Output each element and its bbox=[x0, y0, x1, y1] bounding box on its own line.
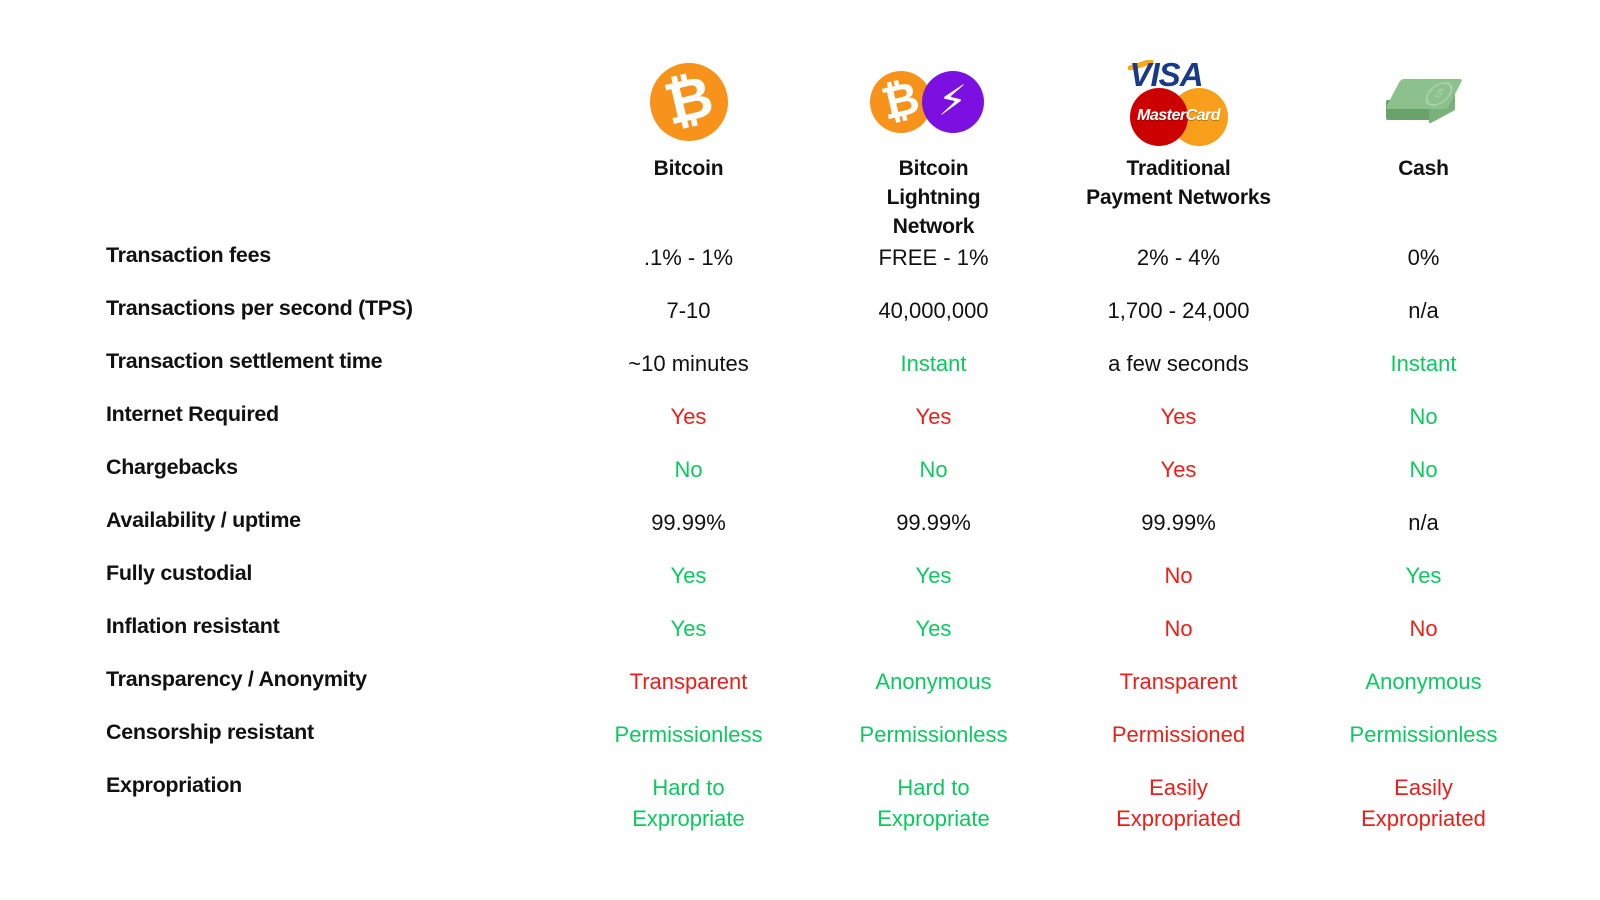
cell-value: FREE - 1% bbox=[811, 232, 1056, 273]
cell-value: 40,000,000 bbox=[811, 273, 1056, 326]
row-label-transparency-anonymity: Transparency / Anonymity bbox=[106, 644, 566, 692]
comparison-table: ₿ Bitcoin ₿ ⚡ Bitcoin Lightning Network bbox=[0, 0, 1600, 900]
cell-value: No bbox=[1301, 432, 1546, 485]
visa-mastercard-stack: VISA MasterCard bbox=[1125, 58, 1233, 146]
bitcoin-symbol-glyph: ₿ bbox=[878, 74, 924, 126]
cell-value: Yes bbox=[1301, 538, 1546, 591]
cell-value: a few seconds bbox=[1056, 326, 1301, 379]
mastercard-logo-icon: MasterCard bbox=[1130, 88, 1228, 146]
row-label-availability-uptime: Availability / uptime bbox=[106, 485, 566, 533]
visa-mastercard-logo-icon: VISA MasterCard bbox=[1125, 50, 1233, 154]
row-label-transaction-fees: Transaction fees bbox=[106, 232, 566, 268]
cell-value: Transparent bbox=[566, 644, 811, 697]
bitcoin-symbol-glyph: ₿ bbox=[659, 66, 718, 133]
row-label-fully-custodial: Fully custodial bbox=[106, 538, 566, 586]
bitcoin-logo-icon: ₿ bbox=[650, 50, 728, 154]
cell-value: Anonymous bbox=[811, 644, 1056, 697]
column-header-lightning: ₿ ⚡ Bitcoin Lightning Network bbox=[811, 40, 1056, 241]
mastercard-wordmark: MasterCard bbox=[1133, 108, 1225, 124]
cell-value: 2% - 4% bbox=[1056, 232, 1301, 273]
cell-value: 0% bbox=[1301, 232, 1546, 273]
cell-value: Permissionless bbox=[811, 697, 1056, 750]
visa-logo-icon: VISA bbox=[1127, 58, 1231, 91]
cell-value: Easily Expropriated bbox=[1056, 750, 1301, 834]
cell-value: No bbox=[1301, 591, 1546, 644]
cell-value: Anonymous bbox=[1301, 644, 1546, 697]
cell-value: .1% - 1% bbox=[566, 232, 811, 273]
cell-value: Yes bbox=[566, 379, 811, 432]
column-header-label: Cash bbox=[1398, 154, 1449, 183]
column-header-label: Bitcoin Lightning Network bbox=[887, 154, 981, 241]
bitcoin-circle: ₿ bbox=[650, 63, 728, 141]
row-label-inflation-resistant: Inflation resistant bbox=[106, 591, 566, 639]
cell-value: n/a bbox=[1301, 485, 1546, 538]
lightning-bolt-circle: ⚡ bbox=[922, 71, 984, 133]
column-header-label: Bitcoin bbox=[654, 154, 724, 183]
lightning-bolt-glyph: ⚡ bbox=[938, 80, 968, 122]
cell-value: Yes bbox=[811, 538, 1056, 591]
cash-stack: $ bbox=[1385, 75, 1463, 129]
row-label-settlement-time: Transaction settlement time bbox=[106, 326, 566, 374]
row-label-internet-required: Internet Required bbox=[106, 379, 566, 427]
column-header-label: Traditional Payment Networks bbox=[1086, 154, 1271, 212]
cell-value: 99.99% bbox=[1056, 485, 1301, 538]
cell-value: No bbox=[566, 432, 811, 485]
cell-value: Yes bbox=[566, 591, 811, 644]
cell-value: Transparent bbox=[1056, 644, 1301, 697]
cell-value: Easily Expropriated bbox=[1301, 750, 1546, 834]
cell-value: Hard to Expropriate bbox=[566, 750, 811, 834]
cell-value: No bbox=[1301, 379, 1546, 432]
row-label-censorship-resistant: Censorship resistant bbox=[106, 697, 566, 745]
row-label-expropriation: Expropriation bbox=[106, 750, 566, 798]
row-label-transactions-per-second: Transactions per second (TPS) bbox=[106, 273, 566, 321]
cell-value: Yes bbox=[1056, 379, 1301, 432]
cell-value: 1,700 - 24,000 bbox=[1056, 273, 1301, 326]
column-header-bitcoin: ₿ Bitcoin bbox=[566, 40, 811, 183]
visa-wordmark: VISA bbox=[1130, 58, 1203, 91]
cell-value: Instant bbox=[1301, 326, 1546, 379]
row-label-chargebacks: Chargebacks bbox=[106, 432, 566, 480]
cell-value: Yes bbox=[811, 591, 1056, 644]
cell-value: Permissionless bbox=[566, 697, 811, 750]
cell-value: 99.99% bbox=[566, 485, 811, 538]
column-header-cash: $ Cash bbox=[1301, 40, 1546, 183]
cash-banknotes-icon: $ bbox=[1385, 50, 1463, 154]
cell-value: n/a bbox=[1301, 273, 1546, 326]
column-header-traditional: VISA MasterCard Traditional Payment Netw… bbox=[1056, 40, 1301, 212]
cell-value: Instant bbox=[811, 326, 1056, 379]
lightning-logo-pair: ₿ ⚡ bbox=[870, 71, 998, 133]
bitcoin-lightning-logo-icon: ₿ ⚡ bbox=[870, 50, 998, 154]
cell-value: Hard to Expropriate bbox=[811, 750, 1056, 834]
cell-value: ~10 minutes bbox=[566, 326, 811, 379]
cell-value: Permissioned bbox=[1056, 697, 1301, 750]
cell-value: Yes bbox=[566, 538, 811, 591]
cell-value: Yes bbox=[811, 379, 1056, 432]
cell-value: 7-10 bbox=[566, 273, 811, 326]
cell-value: No bbox=[1056, 538, 1301, 591]
cell-value: No bbox=[811, 432, 1056, 485]
cell-value: 99.99% bbox=[811, 485, 1056, 538]
cell-value: Permissionless bbox=[1301, 697, 1546, 750]
cell-value: No bbox=[1056, 591, 1301, 644]
cell-value: Yes bbox=[1056, 432, 1301, 485]
